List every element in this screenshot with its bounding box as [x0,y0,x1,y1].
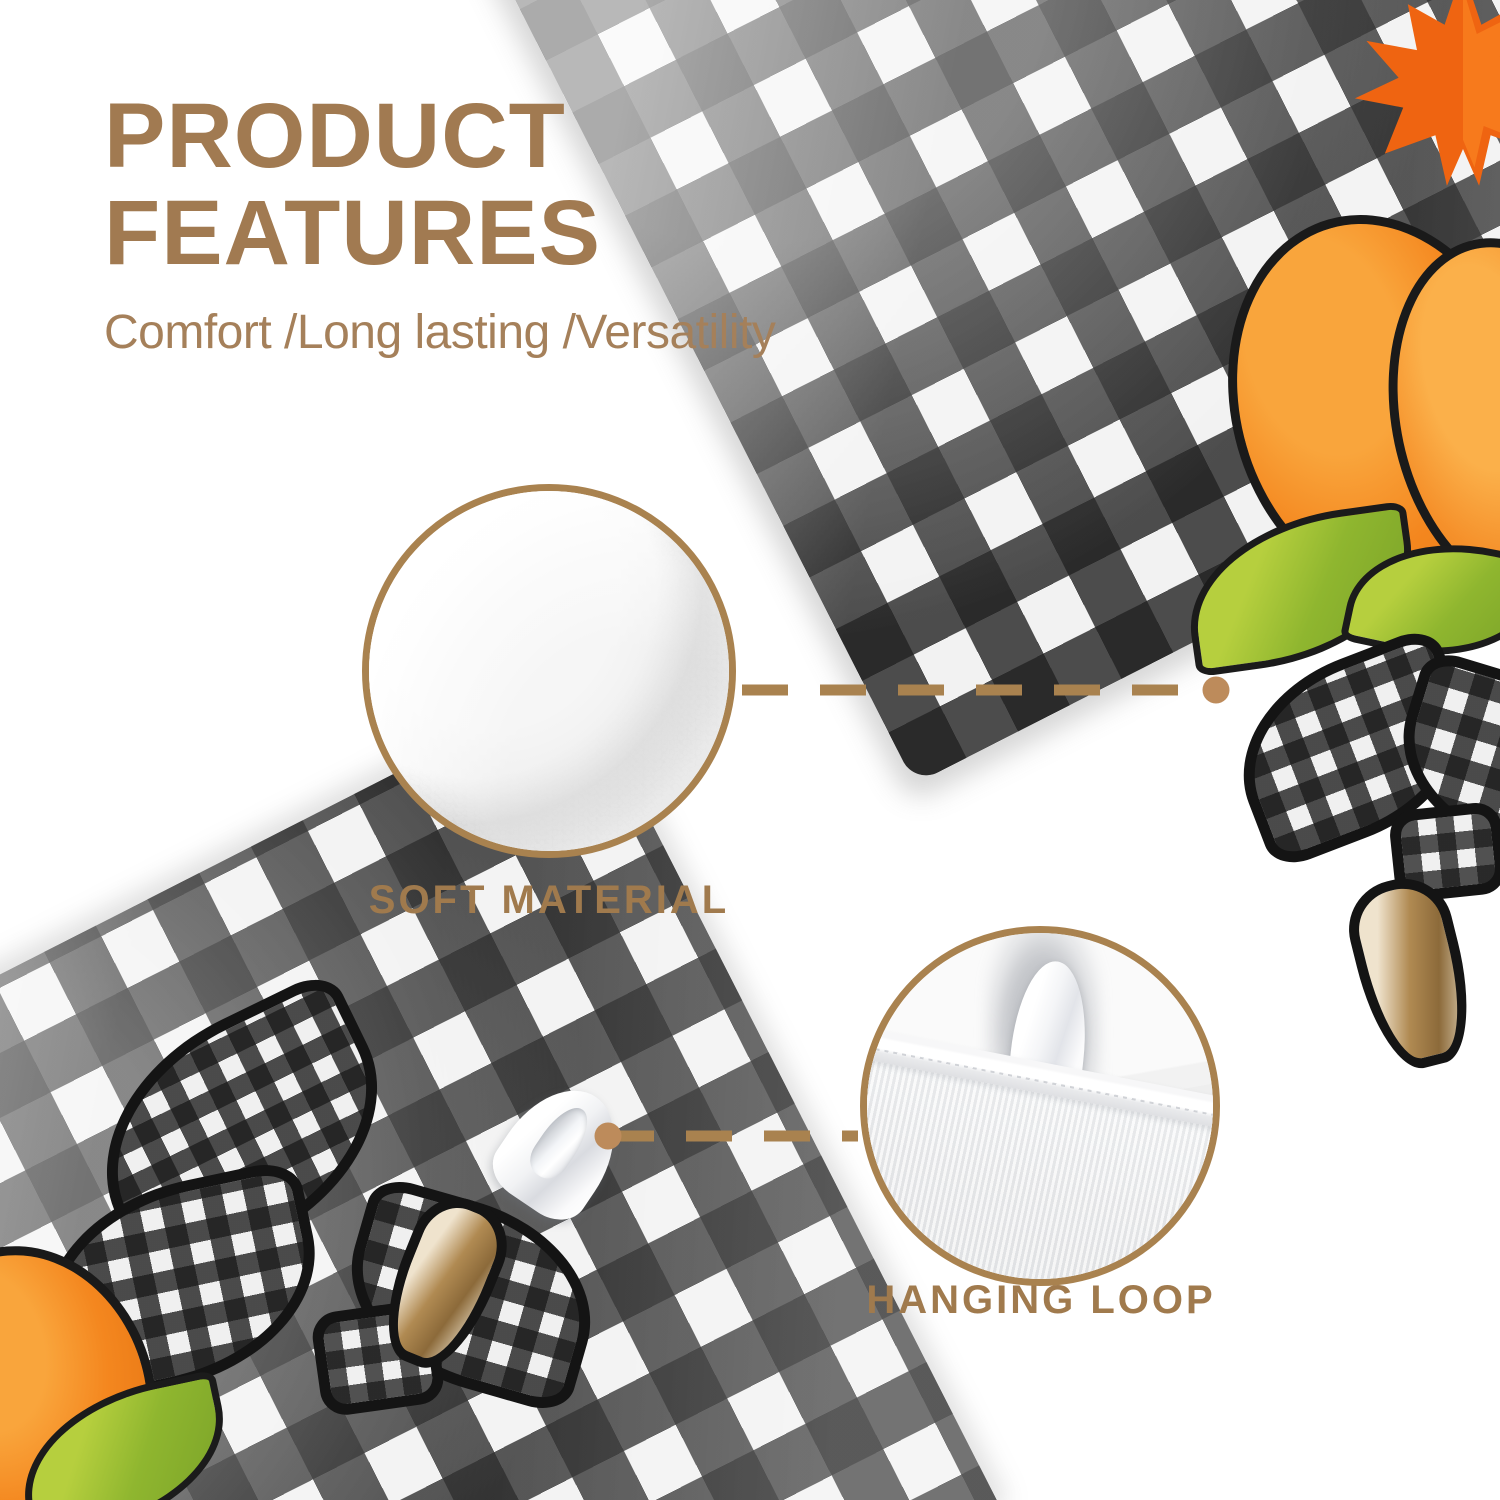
page-title-line-2: FEATURES [104,185,864,282]
connector-dashed-line [742,685,1216,696]
terry-shading-overlay [369,491,729,851]
bow-ribbon-tail [1339,868,1486,1078]
connector-startpoint-dot [595,1123,622,1150]
product-features-infographic: PRODUCT FEATURES Comfort /Long lasting /… [0,0,1500,1500]
soft-material-circle [362,484,736,858]
connector-endpoint-dot [1203,677,1230,704]
soft-material-label: SOFT MATERIAL [362,878,736,923]
page-title-line-1: PRODUCT [104,88,864,185]
connector-dashed-line-2 [608,1131,858,1142]
hanging-loop-circle [860,926,1220,1286]
page-subtitle: Comfort /Long lasting /Versatility [104,305,864,360]
hanging-loop-label: HANGING LOOP [856,1278,1226,1323]
heading-block: PRODUCT FEATURES Comfort /Long lasting /… [104,88,864,360]
fabric-loop-closeup-icon [867,933,1213,1279]
